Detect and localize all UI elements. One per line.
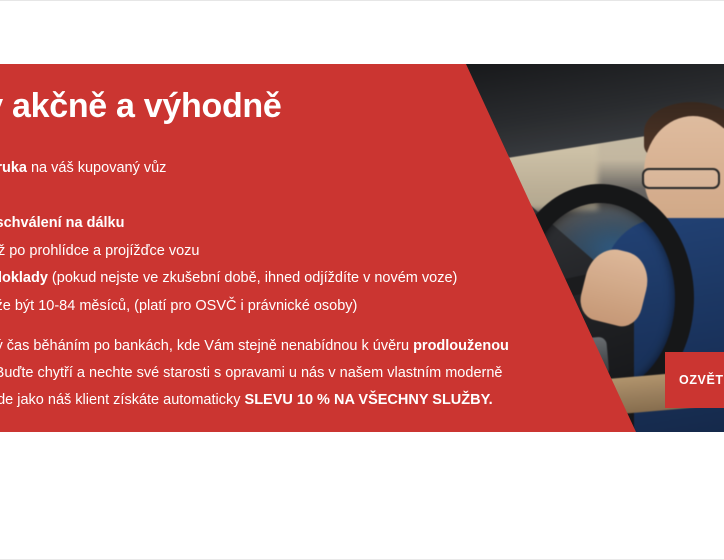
banner-headline: átky akčně a výhodně bbox=[0, 84, 282, 128]
paragraph-line: ocenný čas běháním po bankách, kde Vám s… bbox=[0, 333, 596, 360]
list-item: ená záruka na váš kupovaný vůz bbox=[0, 155, 592, 183]
list-item-lead: ená záruka bbox=[0, 160, 27, 176]
paragraph-text: visu, kde jako náš klient získáte automa… bbox=[0, 392, 245, 408]
paragraph-text: vozu! Buďte chytří a nechte své starosti… bbox=[0, 365, 502, 381]
paragraph-text: ocenný čas běháním po bankách, kde Vám s… bbox=[0, 338, 413, 354]
list-item-lead: é předschválení na dálku bbox=[0, 215, 124, 231]
list-item-lead: e dva doklady bbox=[0, 270, 48, 286]
banner-copy: átky akčně a výhodně ená záruka na váš k… bbox=[0, 64, 660, 432]
paragraph-line: vozu! Buďte chytří a nechte své starosti… bbox=[0, 360, 596, 387]
list-item: od 0 % bbox=[0, 183, 592, 211]
list-item-text: (pokud nejste ve zkušební době, ihned od… bbox=[48, 270, 457, 286]
list-item: tek může být 10-84 měsíců, (platí pro OS… bbox=[0, 293, 592, 321]
list-item-text: na váš kupovaný vůz bbox=[27, 160, 166, 176]
list-item-text: tek může být 10-84 měsíců, (platí pro OS… bbox=[0, 298, 357, 314]
benefits-list: ená záruka na váš kupovaný vůz od 0 % é … bbox=[0, 155, 592, 320]
paragraph-line: visu, kde jako náš klient získáte automa… bbox=[0, 387, 596, 414]
cta-button[interactable]: OZVĚTE bbox=[665, 352, 724, 408]
list-item: é předschválení na dálku bbox=[0, 210, 592, 238]
list-item-text: louvy až po prohlídce a projížďce vozu bbox=[0, 243, 200, 259]
banner-paragraph: ocenný čas běháním po bankách, kde Vám s… bbox=[0, 333, 596, 414]
promo-banner: átky akčně a výhodně ená záruka na váš k… bbox=[0, 64, 724, 432]
top-divider bbox=[0, 0, 724, 1]
list-item: louvy až po prohlídce a projížďce vozu bbox=[0, 238, 592, 266]
cta-button-label: OZVĚTE bbox=[679, 373, 724, 387]
page-root: átky akčně a výhodně ená záruka na váš k… bbox=[0, 0, 724, 560]
list-item: e dva doklady (pokud nejste ve zkušební … bbox=[0, 265, 592, 293]
paragraph-emphasis: prodlouženou bbox=[413, 338, 509, 354]
paragraph-emphasis: SLEVU 10 % NA VŠECHNY SLUŽBY. bbox=[245, 392, 493, 408]
